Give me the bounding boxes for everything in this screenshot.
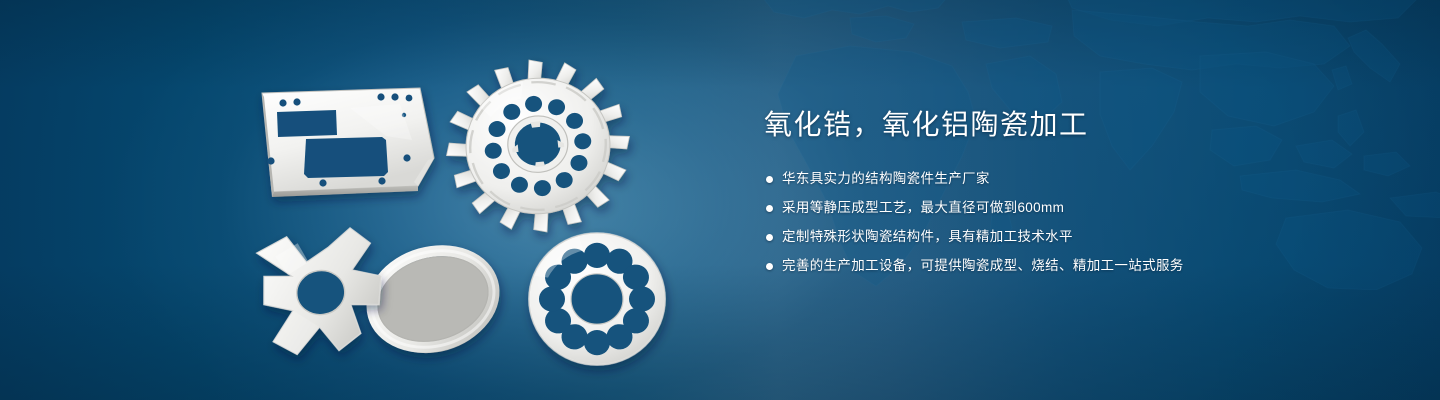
banner-text-block: 氧化锆，氧化铝陶瓷加工 华东具实力的结构陶瓷件生产厂家 采用等静压成型工艺，最大… (764, 108, 1404, 284)
ceramic-impeller-part (437, 50, 638, 241)
feature-text: 采用等静压成型工艺，最大直径可做到600mm (782, 197, 1064, 219)
ceramic-plate-part (262, 88, 434, 197)
list-item: 华东具实力的结构陶瓷件生产厂家 (766, 168, 1404, 190)
banner-feature-list: 华东具实力的结构陶瓷件生产厂家 采用等静压成型工艺，最大直径可做到600mm 定… (766, 168, 1404, 277)
banner-headline: 氧化锆，氧化铝陶瓷加工 (764, 108, 1404, 142)
ceramic-products-image (0, 0, 760, 400)
ceramic-cross-part (255, 225, 391, 361)
feature-text: 华东具实力的结构陶瓷件生产厂家 (782, 168, 990, 190)
list-item: 采用等静压成型工艺，最大直径可做到600mm (766, 197, 1404, 219)
bullet-dot-icon (766, 205, 773, 212)
feature-text: 完善的生产加工设备，可提供陶瓷成型、烧结、精加工一站式服务 (782, 255, 1184, 277)
bullet-dot-icon (766, 176, 773, 183)
ceramic-perforated-disc-part (529, 233, 665, 365)
ceramic-ring-part (360, 237, 507, 367)
list-item: 完善的生产加工设备，可提供陶瓷成型、烧结、精加工一站式服务 (766, 255, 1404, 277)
feature-text: 定制特殊形状陶瓷结构件，具有精加工技术水平 (782, 226, 1073, 248)
promo-banner: 氧化锆，氧化铝陶瓷加工 华东具实力的结构陶瓷件生产厂家 采用等静压成型工艺，最大… (0, 0, 1440, 400)
bullet-dot-icon (766, 263, 773, 270)
list-item: 定制特殊形状陶瓷结构件，具有精加工技术水平 (766, 226, 1404, 248)
bullet-dot-icon (766, 234, 773, 241)
